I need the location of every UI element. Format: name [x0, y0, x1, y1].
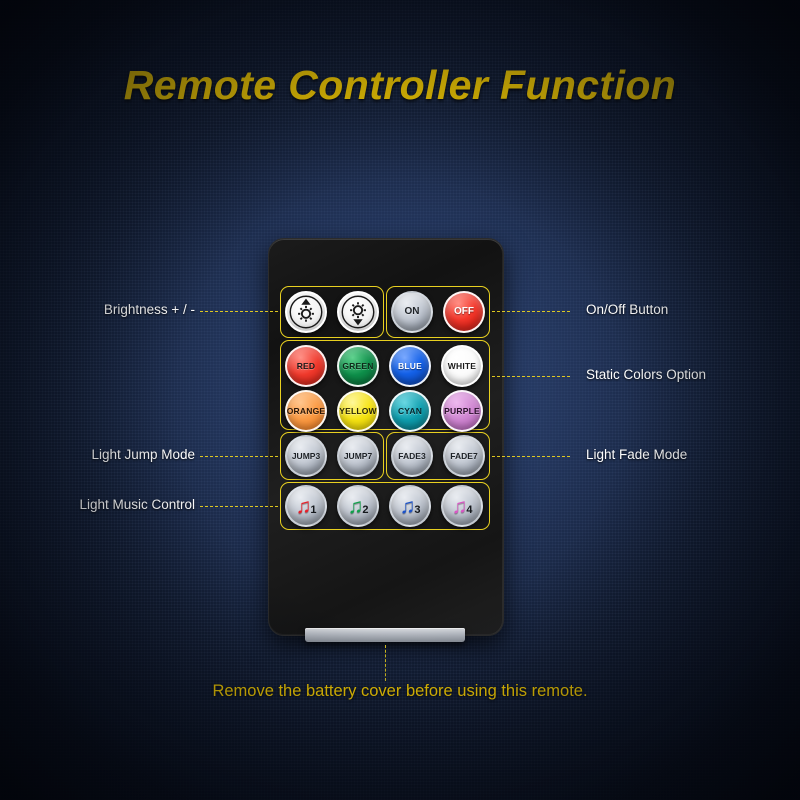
fade3-label: FADE3: [398, 452, 425, 461]
jump-row: JUMP3 JUMP7: [285, 435, 379, 477]
color-white-label: WHITE: [448, 362, 476, 371]
battery-cover-connector: [385, 645, 386, 681]
color-purple-label: PURPLE: [444, 407, 480, 416]
color-red-button[interactable]: RED: [285, 345, 327, 387]
callout-brightness: Brightness + / -: [0, 302, 195, 317]
color-white-button[interactable]: WHITE: [441, 345, 483, 387]
callout-fade: Light Fade Mode: [586, 447, 687, 462]
battery-cover: [305, 628, 465, 642]
music-4-number: 4: [466, 504, 472, 516]
page-title: Remote Controller Function: [0, 62, 800, 109]
color-green-label: GREEN: [342, 362, 373, 371]
on-button-label: ON: [405, 307, 420, 317]
static-colors-row-1: RED GREEN BLUE WHITE: [285, 345, 483, 387]
jump3-button[interactable]: JUMP3: [285, 435, 327, 477]
fade7-button[interactable]: FADE7: [443, 435, 485, 477]
callout-static-colors: Static Colors Option: [586, 367, 706, 382]
callout-static-colors-connector: [492, 376, 570, 377]
music-2-button[interactable]: ♫ 2: [337, 485, 379, 527]
music-1-number: 1: [310, 504, 316, 516]
music-note-icon: ♫: [296, 496, 312, 517]
fade3-button[interactable]: FADE3: [391, 435, 433, 477]
callout-jump: Light Jump Mode: [0, 447, 195, 462]
callout-music-connector: [200, 506, 278, 507]
color-cyan-button[interactable]: CYAN: [389, 390, 431, 432]
color-red-label: RED: [297, 362, 316, 371]
music-1-button[interactable]: ♫ 1: [285, 485, 327, 527]
color-green-button[interactable]: GREEN: [337, 345, 379, 387]
on-button[interactable]: ON: [391, 291, 433, 333]
infographic-stage: Remote Controller Function: [0, 0, 800, 800]
jump3-label: JUMP3: [292, 452, 320, 461]
color-blue-button[interactable]: BLUE: [389, 345, 431, 387]
color-blue-label: BLUE: [398, 362, 422, 371]
callout-fade-connector: [492, 456, 570, 457]
music-2-number: 2: [362, 504, 368, 516]
callout-onoff: On/Off Button: [586, 302, 668, 317]
sun-down-icon: [340, 294, 376, 330]
color-yellow-label: YELLOW: [339, 407, 377, 416]
sun-up-icon: [288, 294, 324, 330]
music-note-icon: ♫: [348, 496, 364, 517]
off-button[interactable]: OFF: [443, 291, 485, 333]
brightness-up-button[interactable]: [285, 291, 327, 333]
off-button-label: OFF: [454, 307, 474, 317]
brightness-row: [285, 291, 379, 333]
callout-jump-connector: [200, 456, 278, 457]
music-note-icon: ♫: [400, 496, 416, 517]
callout-music: Light Music Control: [0, 497, 195, 512]
music-row: ♫ 1 ♫ 2 ♫ 3 ♫ 4: [285, 485, 483, 527]
power-row: ON OFF: [391, 291, 485, 333]
callout-static-colors-label: Static Colors Option: [586, 367, 706, 382]
callout-music-label: Light Music Control: [79, 497, 195, 512]
brightness-down-button[interactable]: [337, 291, 379, 333]
fade7-label: FADE7: [450, 452, 477, 461]
callout-jump-label: Light Jump Mode: [91, 447, 195, 462]
callout-brightness-label: Brightness + / -: [104, 302, 195, 317]
music-4-button[interactable]: ♫ 4: [441, 485, 483, 527]
color-purple-button[interactable]: PURPLE: [441, 390, 483, 432]
color-orange-button[interactable]: ORANGE: [285, 390, 327, 432]
music-3-number: 3: [414, 504, 420, 516]
callout-fade-label: Light Fade Mode: [586, 447, 687, 462]
jump7-label: JUMP7: [344, 452, 372, 461]
color-cyan-label: CYAN: [398, 407, 422, 416]
static-colors-row-2: ORANGE YELLOW CYAN PURPLE: [285, 390, 483, 432]
callout-onoff-connector: [492, 311, 570, 312]
jump7-button[interactable]: JUMP7: [337, 435, 379, 477]
fade-row: FADE3 FADE7: [391, 435, 485, 477]
caption-text: Remove the battery cover before using th…: [0, 682, 800, 701]
callout-brightness-connector: [200, 311, 278, 312]
color-yellow-button[interactable]: YELLOW: [337, 390, 379, 432]
music-3-button[interactable]: ♫ 3: [389, 485, 431, 527]
color-orange-label: ORANGE: [287, 407, 326, 416]
music-note-icon: ♫: [452, 496, 468, 517]
callout-onoff-label: On/Off Button: [586, 302, 668, 317]
